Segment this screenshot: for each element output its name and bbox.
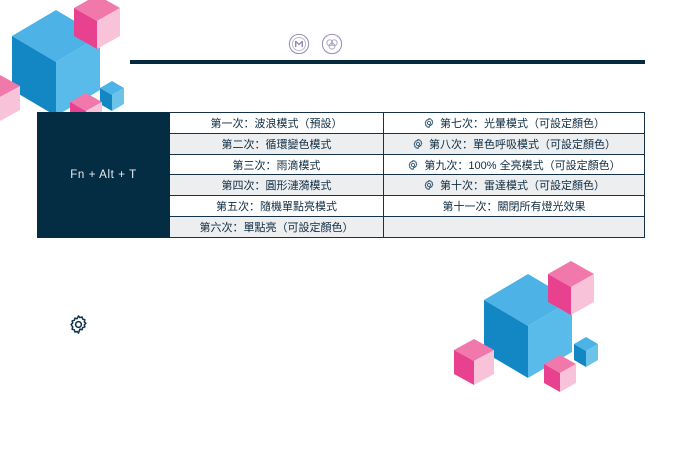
table-cell-left: 第三次：雨滴模式 xyxy=(170,155,384,175)
table-cell-left: 第五次：隨機單點亮模式 xyxy=(170,196,384,216)
gear-icon xyxy=(423,179,435,191)
table-row: 第一次：波浪模式（預設） 第七次：光暈模式（可設定顏色） xyxy=(170,113,644,133)
table-row: 第四次：圓形漣漪模式 第十次：雷達模式（可設定顏色） xyxy=(170,174,644,195)
brand-badge-rings-icon xyxy=(321,33,343,55)
mode-label: 第十次：雷達模式（可設定顏色） xyxy=(440,177,605,193)
brand-badges xyxy=(288,33,343,55)
mode-label: 第七次：光暈模式（可設定顏色） xyxy=(440,115,605,131)
shortcut-key-panel: Fn + Alt + T xyxy=(37,112,170,238)
table-cell-right: 第七次：光暈模式（可設定顏色） xyxy=(384,113,644,133)
header-divider xyxy=(130,60,645,64)
table-row: 第二次：循環變色模式 第八次：單色呼吸模式（可設定顏色） xyxy=(170,133,644,154)
cube-small-blue-right xyxy=(574,337,598,367)
table-cell-left: 第二次：循環變色模式 xyxy=(170,134,384,154)
table-cell-right: 第十次：雷達模式（可設定顏色） xyxy=(384,175,644,195)
cube-small-blue-right xyxy=(100,81,124,111)
settings-gear-icon xyxy=(68,314,89,335)
table-cell-left: 第六次：單點亮（可設定顏色） xyxy=(170,217,384,237)
table-row: 第五次：隨機單點亮模式 第十一次：關閉所有燈光效果 xyxy=(170,195,644,216)
table-row: 第三次：雨滴模式 第九次：100% 全亮模式（可設定顏色） xyxy=(170,154,644,175)
mode-label: 第十一次：關閉所有燈光效果 xyxy=(443,198,586,214)
table-cell-right: 第八次：單色呼吸模式（可設定顏色） xyxy=(384,134,644,154)
page-canvas: Fn + Alt + T 第一次：波浪模式（預設） 第七次：光暈模式（可設定顏色… xyxy=(0,0,680,454)
table-grid: 第一次：波浪模式（預設） 第七次：光暈模式（可設定顏色） 第二次：循環變色模式 xyxy=(170,112,645,238)
cube-cluster-bottom-right xyxy=(448,252,638,392)
brand-badge-m-icon xyxy=(288,33,310,55)
mode-label: 第六次：單點亮（可設定顏色） xyxy=(200,219,354,235)
gear-icon xyxy=(412,138,424,150)
mode-label: 第八次：單色呼吸模式（可設定顏色） xyxy=(429,136,616,152)
mode-label: 第四次：圓形漣漪模式 xyxy=(222,177,332,193)
shortcut-key-label: Fn + Alt + T xyxy=(70,169,136,181)
gear-icon xyxy=(407,159,419,171)
gear-icon xyxy=(423,117,435,129)
table-cell-right-empty xyxy=(384,217,644,237)
table-cell-right: 第九次：100% 全亮模式（可設定顏色） xyxy=(384,155,644,175)
mode-label: 第五次：隨機單點亮模式 xyxy=(216,198,337,214)
table-cell-left: 第四次：圓形漣漪模式 xyxy=(170,175,384,195)
mode-label: 第二次：循環變色模式 xyxy=(222,136,332,152)
mode-label: 第三次：雨滴模式 xyxy=(233,157,321,173)
mode-label: 第九次：100% 全亮模式（可設定顏色） xyxy=(424,157,620,173)
table-cell-left: 第一次：波浪模式（預設） xyxy=(170,113,384,133)
table-cell-right: 第十一次：關閉所有燈光效果 xyxy=(384,196,644,216)
table-row: 第六次：單點亮（可設定顏色） xyxy=(170,216,644,237)
lighting-mode-table: Fn + Alt + T 第一次：波浪模式（預設） 第七次：光暈模式（可設定顏色… xyxy=(37,112,645,238)
mode-label: 第一次：波浪模式（預設） xyxy=(211,115,343,131)
